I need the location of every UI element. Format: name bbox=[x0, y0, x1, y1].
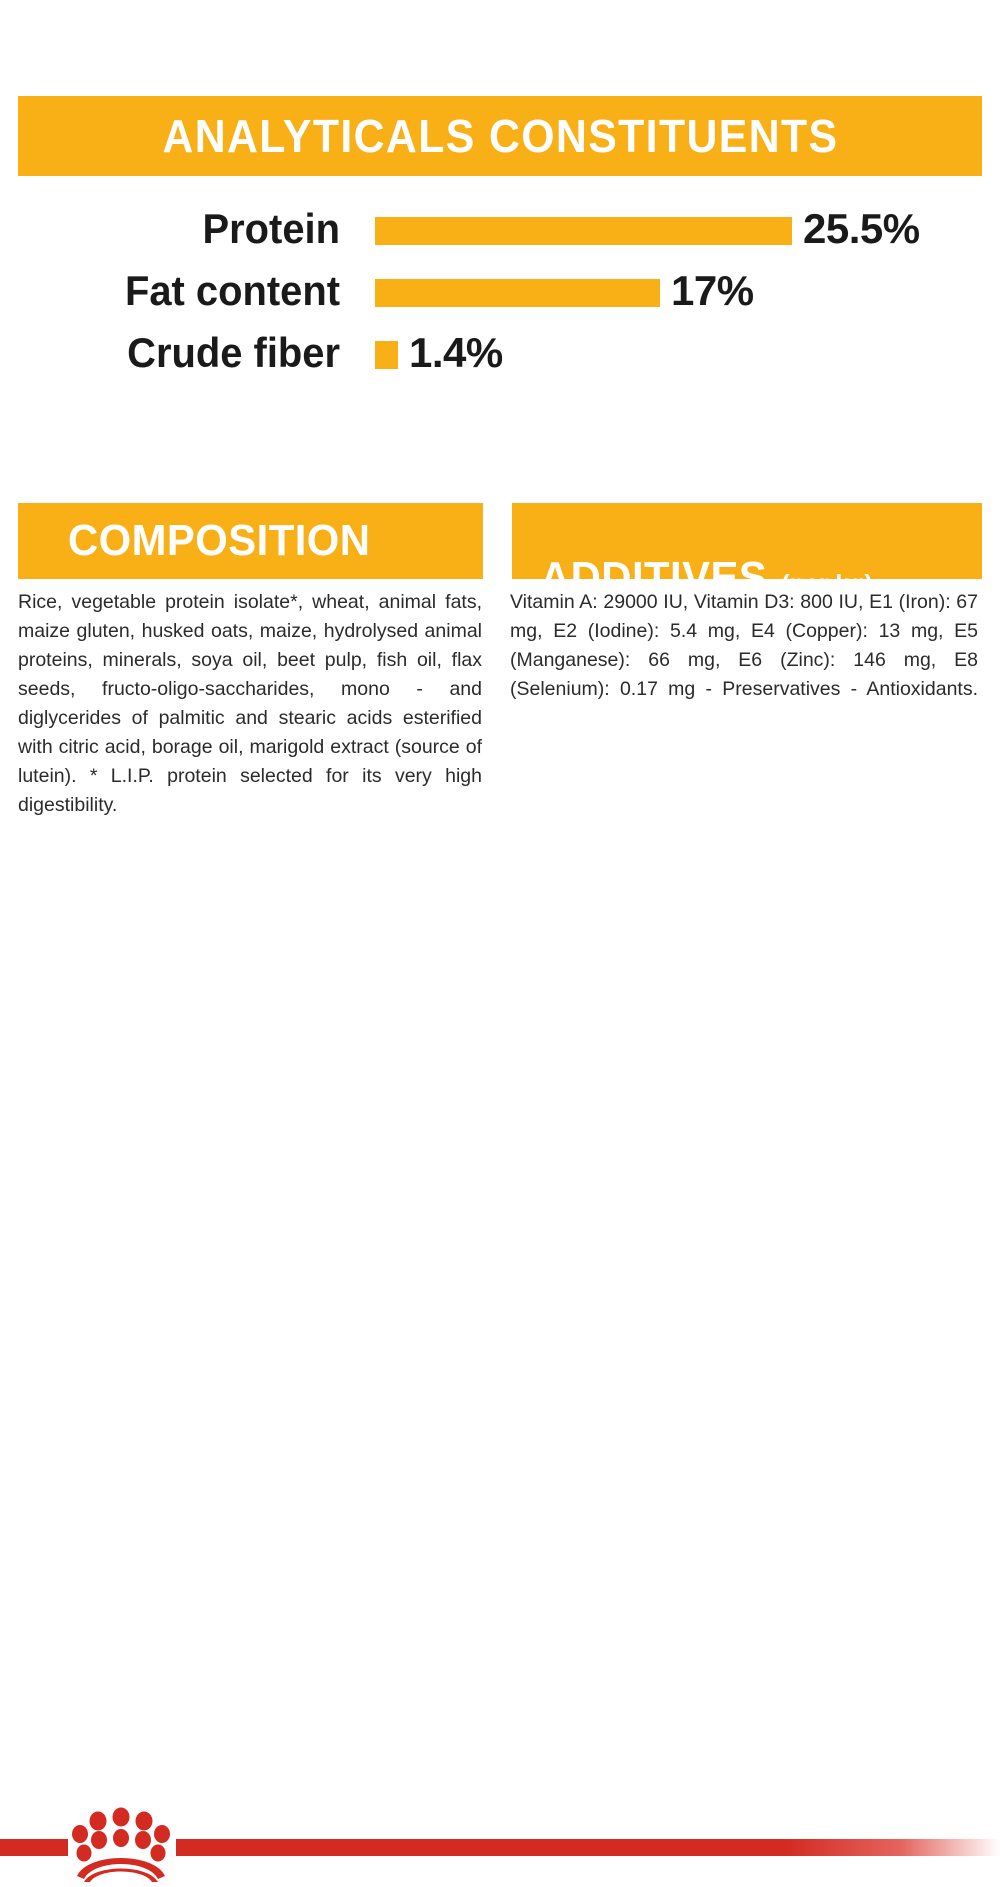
composition-body-text: Rice, vegetable protein isolate*, wheat,… bbox=[18, 588, 482, 849]
chart-value-label: 25.5% bbox=[803, 200, 920, 258]
composition-header: COMPOSITION bbox=[18, 503, 483, 579]
chart-category-label: Protein bbox=[17, 200, 340, 258]
additives-header: ADDITIVES (per kg) bbox=[512, 503, 982, 579]
chart-category-label: Fat content bbox=[17, 262, 340, 320]
chart-row: Crude fiber1.4% bbox=[0, 324, 1000, 382]
chart-bar bbox=[375, 279, 660, 307]
analyticals-bar-chart: Protein25.5%Fat content17%Crude fiber1.4… bbox=[0, 196, 1000, 386]
analyticals-constituents-title: ANALYTICALS CONSTITUENTS bbox=[162, 109, 838, 163]
analyticals-constituents-header: ANALYTICALS CONSTITUENTS bbox=[18, 96, 982, 176]
product-nutrition-panel: ANALYTICALS CONSTITUENTS Protein25.5%Fat… bbox=[0, 0, 1000, 1000]
composition-title: COMPOSITION bbox=[68, 516, 370, 566]
chart-bar bbox=[375, 341, 398, 369]
chart-value-label: 17% bbox=[671, 262, 754, 320]
royal-canin-crown-icon bbox=[68, 1806, 176, 1882]
chart-row: Fat content17% bbox=[0, 262, 1000, 320]
brand-footer bbox=[0, 900, 1000, 1000]
chart-bar bbox=[375, 217, 792, 245]
additives-body-text: Vitamin A: 29000 IU, Vitamin D3: 800 IU,… bbox=[510, 588, 978, 733]
footer-rule-right bbox=[176, 1839, 1000, 1856]
footer-rule-left bbox=[0, 1839, 68, 1856]
chart-value-label: 1.4% bbox=[409, 324, 503, 382]
chart-row: Protein25.5% bbox=[0, 200, 1000, 258]
chart-category-label: Crude fiber bbox=[17, 324, 340, 382]
